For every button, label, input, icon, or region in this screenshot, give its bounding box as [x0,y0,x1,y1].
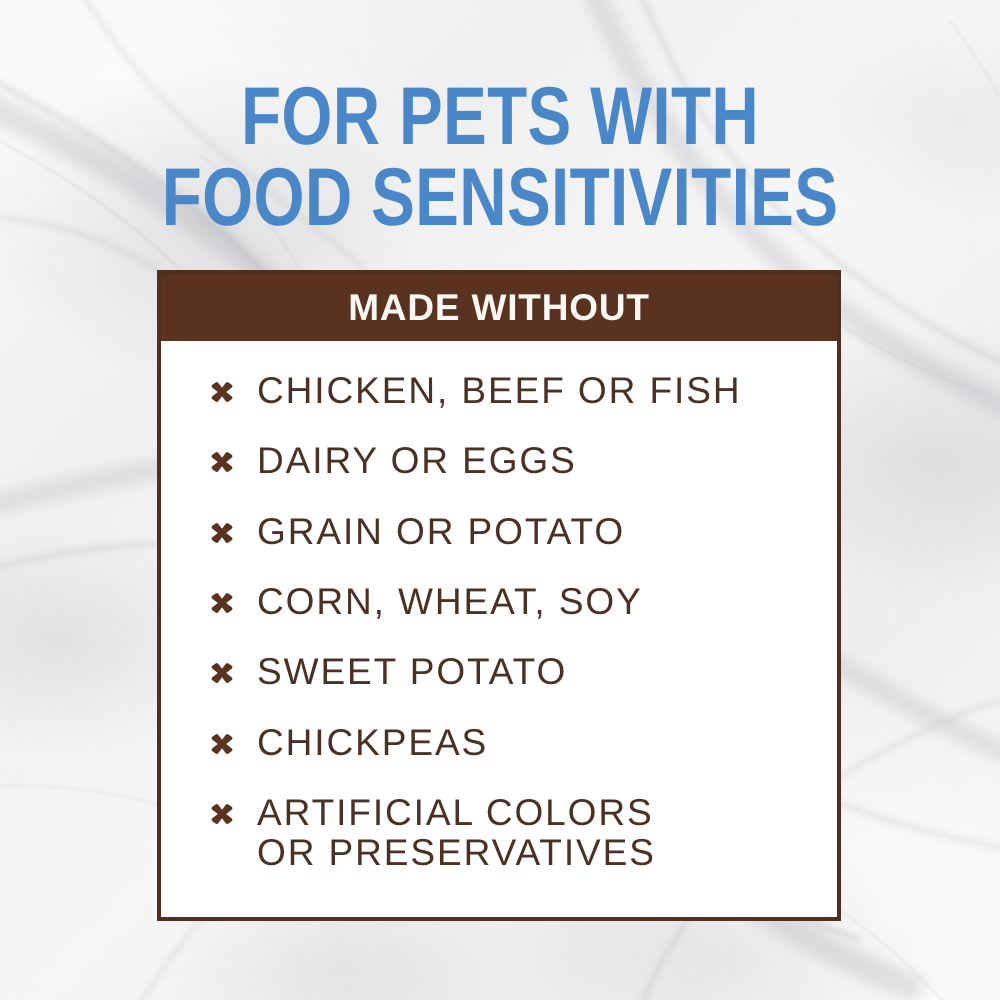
x-mark-icon [207,588,237,618]
x-mark-icon [207,518,237,548]
x-mark-icon [207,729,237,759]
list-item: CORN, WHEAT, SOY [207,582,813,622]
list-item-label: DAIRY OR EGGS [257,441,577,481]
card-body: CHICKEN, BEEF OR FISH DAIRY OR EGGS [161,341,837,917]
x-mark-icon [207,447,237,477]
list-item: CHICKEN, BEEF OR FISH [207,371,813,411]
card-header: MADE WITHOUT [161,274,837,341]
list-item-label: CHICKEN, BEEF OR FISH [257,371,741,411]
x-mark-icon [207,377,237,407]
list-item: CHICKPEAS [207,723,813,763]
list-item: SWEET POTATO [207,652,813,692]
made-without-card: MADE WITHOUT CHICKEN, BEEF OR FISH [157,270,841,921]
headline-line-2: FOOD SENSITIVITIES [100,159,900,238]
exclusion-list: CHICKEN, BEEF OR FISH DAIRY OR EGGS [161,371,837,874]
list-item: ARTIFICIAL COLORS OR PRESERVATIVES [207,793,813,874]
headline-line-1: FOR PETS WITH [100,78,900,157]
list-item-label: ARTIFICIAL COLORS OR PRESERVATIVES [257,793,656,874]
list-item-label: CHICKPEAS [257,723,488,763]
list-item: DAIRY OR EGGS [207,441,813,481]
list-item-label: GRAIN OR POTATO [257,512,625,552]
list-item-label: SWEET POTATO [257,652,567,692]
x-mark-icon [207,799,237,829]
card-header-title: MADE WITHOUT [348,289,650,326]
list-item-label: CORN, WHEAT, SOY [257,582,643,622]
list-item: GRAIN OR POTATO [207,512,813,552]
x-mark-icon [207,658,237,688]
poster-canvas: FOR PETS WITH FOOD SENSITIVITIES MADE WI… [0,0,1000,1000]
headline: FOR PETS WITH FOOD SENSITIVITIES [0,78,1000,237]
